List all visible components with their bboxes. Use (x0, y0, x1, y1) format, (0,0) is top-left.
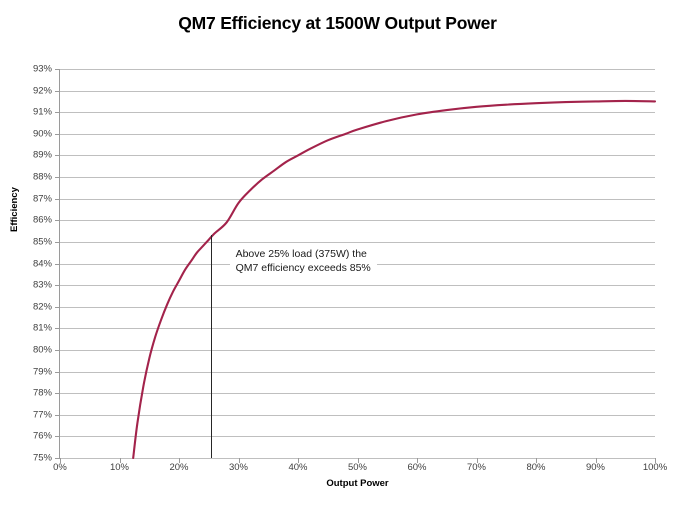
y-axis-tick-label: 92% (6, 85, 52, 96)
x-axis-tick-label: 20% (149, 462, 209, 473)
y-axis-tick-label: 82% (6, 301, 52, 312)
threshold-marker-line (211, 235, 212, 458)
x-axis-tick-label: 50% (328, 462, 388, 473)
y-axis-tick-label: 76% (6, 431, 52, 442)
y-axis-tick-label: 87% (6, 193, 52, 204)
efficiency-chart: QM7 Efficiency at 1500W Output Power Eff… (0, 0, 675, 506)
y-axis-tick-label: 86% (6, 215, 52, 226)
y-axis-tick-label: 88% (6, 172, 52, 183)
y-axis-tick-label: 77% (6, 409, 52, 420)
y-axis-tick-label: 89% (6, 150, 52, 161)
x-axis-tick-label: 60% (387, 462, 447, 473)
x-axis-tick-label: 30% (209, 462, 269, 473)
efficiency-threshold-annotation: Above 25% load (375W) the QM7 efficiency… (230, 243, 377, 281)
x-axis-tick-label: 70% (447, 462, 507, 473)
x-axis-title: Output Power (60, 478, 655, 489)
x-axis-tick-label: 0% (30, 462, 90, 473)
x-axis-tick-label: 40% (268, 462, 328, 473)
y-axis-tick-label: 79% (6, 366, 52, 377)
y-axis-tick-label: 85% (6, 236, 52, 247)
chart-title: QM7 Efficiency at 1500W Output Power (0, 13, 675, 34)
y-axis-tick-label: 81% (6, 323, 52, 334)
y-axis-tick-label: 91% (6, 107, 52, 118)
x-axis-tick-label: 90% (566, 462, 626, 473)
plot-area: Above 25% load (375W) the QM7 efficiency… (60, 69, 655, 458)
y-axis-tick-label: 93% (6, 64, 52, 75)
y-axis-tick-labels: 93%92%91%90%89%88%87%86%85%84%83%82%81%8… (0, 69, 52, 458)
x-axis-tick-label: 100% (625, 462, 675, 473)
y-axis-tick-label: 78% (6, 388, 52, 399)
y-axis-tick-label: 80% (6, 344, 52, 355)
y-axis-tick-label: 84% (6, 258, 52, 269)
x-axis-tick-label: 80% (506, 462, 566, 473)
y-axis-tick-label: 90% (6, 128, 52, 139)
x-axis-tick-label: 10% (90, 462, 150, 473)
y-axis-tick-label: 83% (6, 280, 52, 291)
